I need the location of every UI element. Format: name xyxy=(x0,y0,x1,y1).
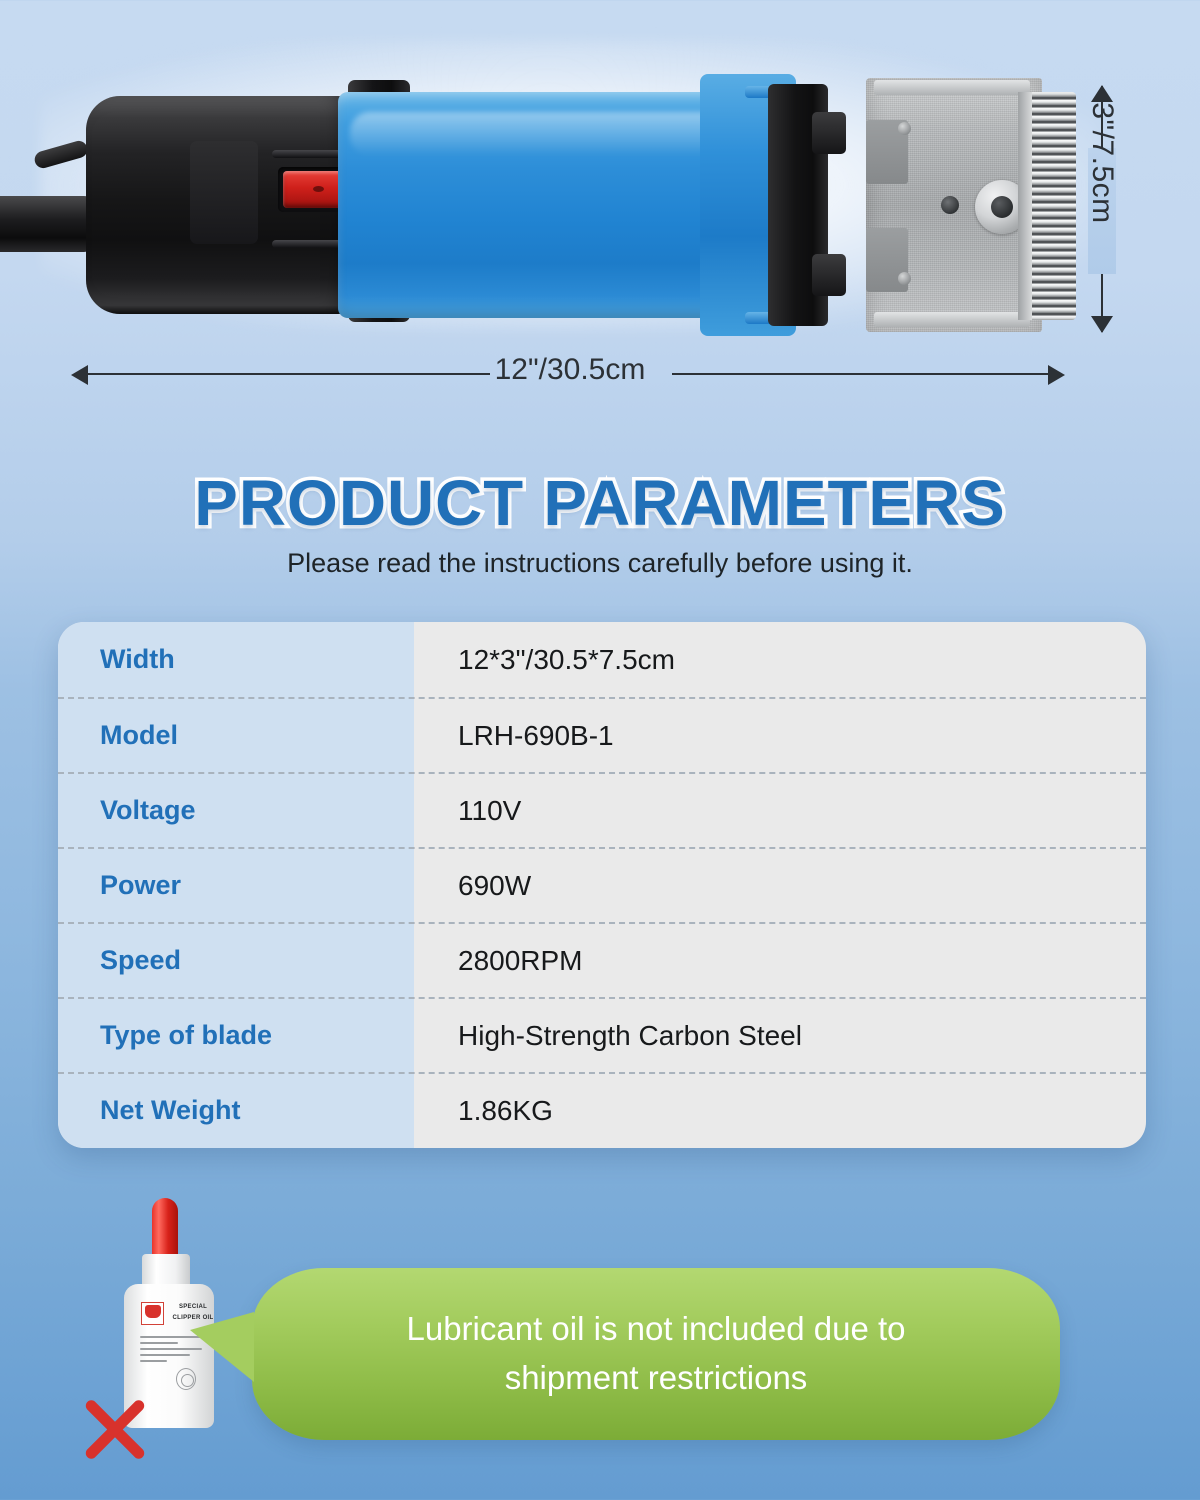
arrow-down-icon xyxy=(1091,316,1113,333)
spec-value: 2800RPM xyxy=(414,945,1146,977)
bottle-cap xyxy=(142,1254,190,1288)
height-dimension: 3"/7.5cm xyxy=(1082,86,1122,332)
handle-highlight xyxy=(350,112,750,156)
spec-label: Model xyxy=(58,720,414,751)
blade-plate-top xyxy=(874,80,1030,95)
power-cord xyxy=(0,196,98,252)
spec-value: 1.86KG xyxy=(414,1095,1146,1127)
notice-line-1: Lubricant oil is not included due to xyxy=(407,1310,906,1349)
spec-label: Speed xyxy=(58,945,414,976)
spec-row: Model LRH-690B-1 xyxy=(58,697,1146,772)
spec-value: High-Strength Carbon Steel xyxy=(414,1020,1146,1052)
width-dimension-line-left xyxy=(86,373,490,375)
neck-knob-bottom xyxy=(812,254,846,296)
spec-label: Type of blade xyxy=(58,1020,414,1051)
arrow-right-icon xyxy=(1048,365,1065,385)
notice-text: Lubricant oil is not included due to shi… xyxy=(252,1268,1060,1440)
product-photo: 3"/7.5cm 12"/30.5cm xyxy=(0,0,1200,420)
spec-table-rows: Width12*3"/30.5*7.5cmModel LRH-690B-1Vol… xyxy=(58,622,1146,1147)
spec-value: LRH-690B-1 xyxy=(414,720,1146,752)
spec-label: Voltage xyxy=(58,795,414,826)
page-title: PRODUCT PARAMETERS xyxy=(0,466,1200,540)
spec-row: Type of bladeHigh-Strength Carbon Steel xyxy=(58,997,1146,1072)
spec-row: Width12*3"/30.5*7.5cm xyxy=(58,622,1146,697)
spec-label: Width xyxy=(58,644,414,675)
blade-plate-bottom xyxy=(874,312,1030,327)
spec-label: Power xyxy=(58,870,414,901)
page-subtitle: Please read the instructions carefully b… xyxy=(0,548,1200,579)
neck-knob-top xyxy=(812,112,846,154)
spec-value: 12*3"/30.5*7.5cm xyxy=(414,644,1146,676)
comb-blade-spine xyxy=(1018,92,1032,320)
arrow-left-icon xyxy=(71,365,88,385)
notice-bubble-tail xyxy=(190,1312,254,1382)
bottle-nozzle xyxy=(152,1198,178,1260)
notice-line-2: shipment restrictions xyxy=(505,1359,808,1398)
height-dimension-label: 3"/7.5cm xyxy=(1085,81,1119,245)
spec-table: Width12*3"/30.5*7.5cmModel LRH-690B-1Vol… xyxy=(58,622,1146,1148)
spec-row: Speed2800RPM xyxy=(58,922,1146,997)
excluded-x-icon xyxy=(78,1392,152,1466)
spec-row: Voltage110V xyxy=(58,772,1146,847)
spec-value: 110V xyxy=(414,795,1146,827)
width-dimension-line-right xyxy=(672,373,1050,375)
bottle-brand-line1: SPECIAL xyxy=(179,1304,207,1310)
motor-side-panel xyxy=(190,141,258,244)
spec-label: Net Weight xyxy=(58,1095,414,1126)
bottle-logo-icon xyxy=(141,1302,164,1325)
width-dimension: 12"/30.5cm xyxy=(72,348,1064,400)
spec-value: 690W xyxy=(414,870,1146,902)
switch-indicator xyxy=(313,186,324,192)
width-dimension-label: 12"/30.5cm xyxy=(480,353,660,387)
oil-hole xyxy=(941,196,959,214)
spec-row: Net Weight1.86KG xyxy=(58,1072,1146,1147)
notice-bubble: Lubricant oil is not included due to shi… xyxy=(252,1268,1060,1440)
spec-row: Power690W xyxy=(58,847,1146,922)
blade-screw-bottom xyxy=(898,272,911,285)
blade-screw-top xyxy=(898,122,911,135)
